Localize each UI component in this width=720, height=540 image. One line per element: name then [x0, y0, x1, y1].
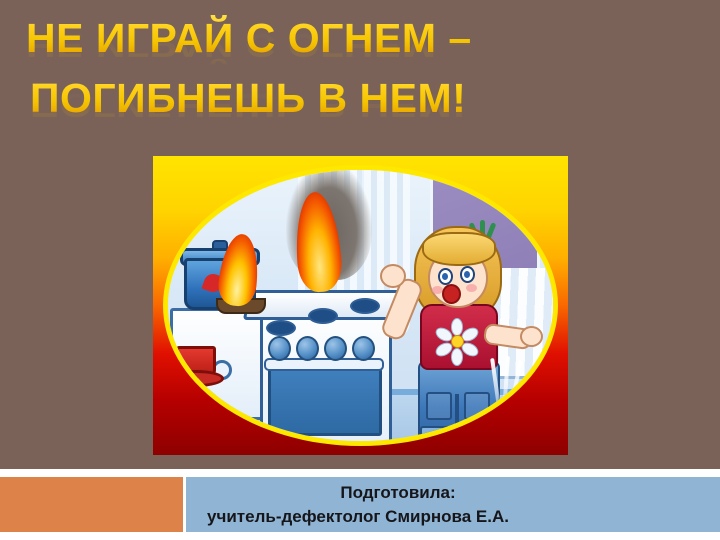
- title-line-2: ПОГИБНЕШЬ В НЕМ!: [30, 74, 562, 122]
- illustration-oval: [163, 165, 558, 446]
- eye-left-icon: [438, 268, 453, 285]
- jeans-cuff-icon: [458, 426, 496, 441]
- burner-icon: [308, 308, 338, 324]
- steam-wisp: [490, 358, 502, 414]
- stove-knob-icon: [352, 336, 375, 361]
- saucer-icon: [168, 370, 224, 387]
- steam-wisps-icon: [490, 356, 520, 418]
- daisy-center: [451, 335, 464, 348]
- illustration-frame: [153, 156, 568, 455]
- footer-subtitle-band: Подготовила: учитель-дефектолог Смирнова…: [186, 477, 720, 532]
- footer-line-2: учитель-дефектолог Смирнова Е.А.: [207, 505, 699, 529]
- burner-icon: [350, 298, 380, 314]
- title-line-1: НЕ ИГРАЙ С ОГНЕМ –: [26, 14, 562, 62]
- burner-icon: [266, 320, 296, 336]
- stove-knob-icon: [268, 336, 291, 361]
- kitchen-scene: [168, 170, 553, 441]
- oven-door: [268, 368, 382, 436]
- hand-right-icon: [520, 326, 543, 347]
- presentation-slide: НЕ ИГРАЙ С ОГНЕМ – ПОГИБНЕШЬ В НЕМ! НЕ И…: [0, 0, 720, 540]
- footer-line-1: Подготовила:: [340, 481, 565, 505]
- stove-knob-row: [268, 336, 378, 358]
- stove-knob-icon: [296, 336, 319, 361]
- mouth-open-icon: [442, 284, 461, 304]
- daisy-print-icon: [440, 324, 472, 356]
- slide-title: НЕ ИГРАЙ С ОГНЕМ – ПОГИБНЕШЬ В НЕМ! НЕ И…: [22, 14, 562, 154]
- jeans-pocket-icon: [464, 392, 490, 420]
- footer-accent-block: [0, 477, 183, 532]
- stove-knob-icon: [324, 336, 347, 361]
- hair-fringe-icon: [422, 232, 496, 266]
- daisy-petal: [451, 348, 463, 366]
- eye-right-icon: [460, 266, 475, 283]
- jeans-cuff-icon: [420, 426, 458, 441]
- jeans-pocket-icon: [426, 392, 452, 420]
- cheek-right: [466, 284, 477, 292]
- hand-left-raised-icon: [380, 264, 406, 288]
